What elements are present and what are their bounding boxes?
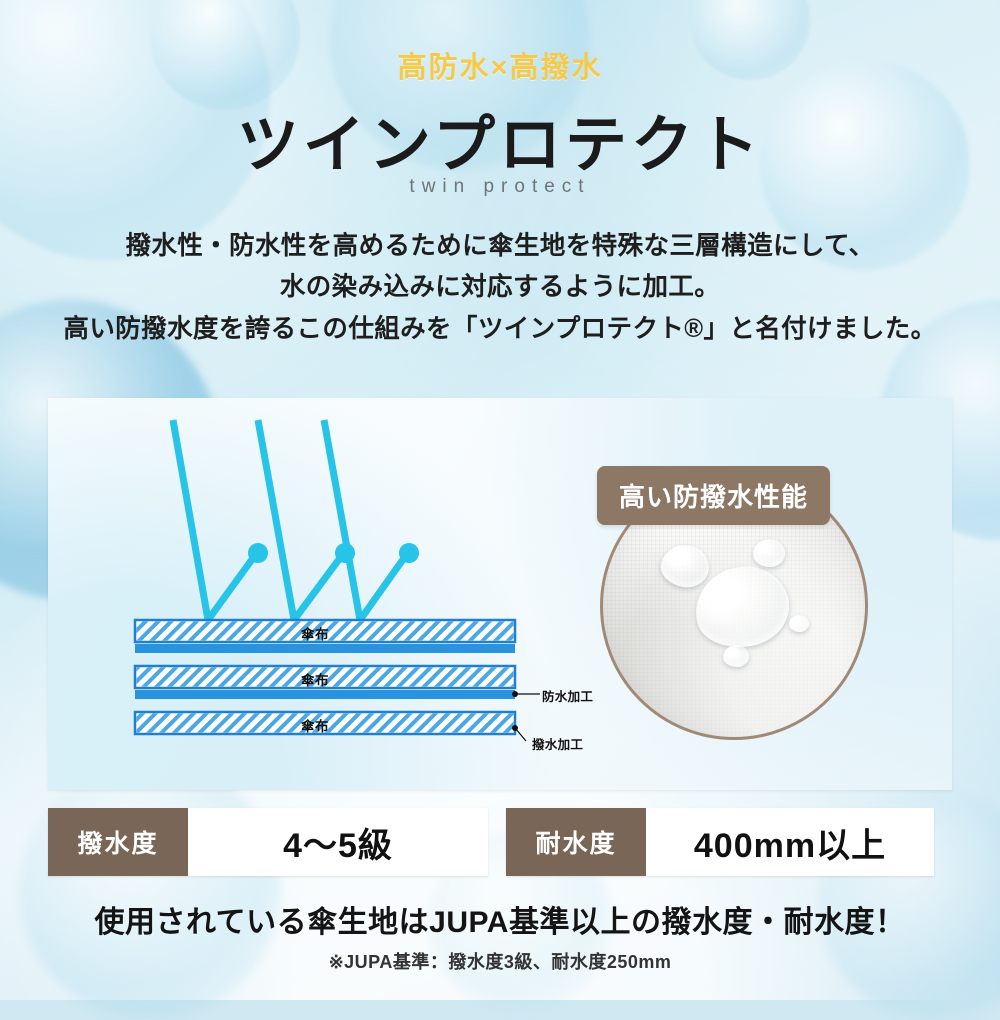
spec-value: 4〜5級 [188,808,488,876]
page-title: ツインプロテクト [0,94,1000,184]
lead-line-3: 高い防撥水度を誇るこの仕組みを「ツインプロテクト®」と名付けました。 [0,309,1000,350]
spec-label: 耐水度 [506,808,646,876]
callout-badge: 高い防撥水性能 [597,466,830,525]
waterproof-coating-label: 防水加工 [542,686,593,705]
fabric-layer-label-3: 傘布 [301,715,329,735]
promo-page: 高防水×高撥水 ツインプロテクト twin protect 撥水性・防水性を高め… [0,0,1000,1000]
page-subtitle: twin protect [0,176,1000,198]
footer-note: ※JUPA基準：撥水度3級、耐水度250mm [0,948,1000,974]
water-droplet-icon [753,539,785,567]
spec-water-resistance: 耐水度 400mm以上 [506,808,934,876]
fabric-layer-label-2: 傘布 [301,669,329,689]
spec-value: 400mm以上 [646,808,934,876]
lead-line-2: 水の染み込みに対応するように加工。 [0,267,1000,308]
spec-water-repellency: 撥水度 4〜5級 [48,808,488,876]
eyebrow-text: 高防水×高撥水 [0,44,1000,86]
lead-paragraph: 撥水性・防水性を高めるために傘生地を特殊な三層構造にして、 水の染み込みに対応す… [0,226,1000,350]
spec-label: 撥水度 [48,808,188,876]
water-repellent-coating-label: 撥水加工 [532,734,583,753]
water-droplet-icon [789,615,809,632]
water-droplet-icon [723,645,749,667]
spec-row: 撥水度 4〜5級 耐水度 400mm以上 [48,808,952,876]
footer-headline: 使用されている傘生地はJUPA基準以上の撥水度・耐水度！ [0,897,1000,941]
lead-line-1: 撥水性・防水性を高めるために傘生地を特殊な三層構造にして、 [0,226,1000,267]
fabric-layer-label-1: 傘布 [301,623,329,643]
